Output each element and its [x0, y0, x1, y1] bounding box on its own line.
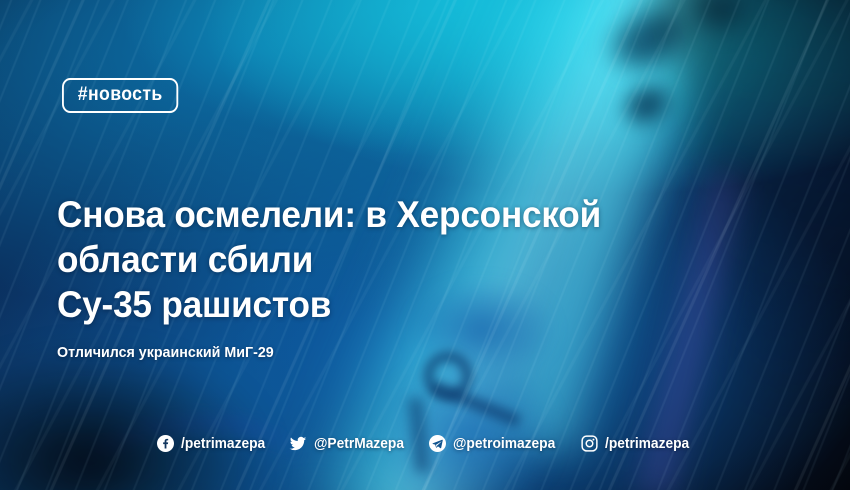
headline: Снова осмелели: в Херсонской области сби… — [57, 192, 741, 327]
instagram-icon — [581, 435, 598, 452]
telegram-icon — [429, 435, 446, 452]
social-link-twitter[interactable]: @PetrMazepa — [289, 435, 409, 452]
social-handle: @petroimazepa — [453, 436, 555, 452]
social-handle: /petrimazepa — [181, 436, 265, 452]
social-link-telegram[interactable]: @petroimazepa — [429, 435, 561, 452]
news-card: #новость Снова осмелели: в Херсонской об… — [0, 0, 850, 490]
social-link-instagram[interactable]: /petrimazepa — [581, 435, 694, 452]
twitter-icon — [289, 435, 307, 452]
category-badge[interactable]: #новость — [62, 78, 178, 113]
subtitle: Отличился украинский МиГ-29 — [57, 344, 274, 361]
social-link-facebook[interactable]: /petrimazepa — [157, 435, 270, 452]
social-links-bar: /petrimazepa @PetrMazepa @petroimazepa — [0, 435, 850, 452]
headline-line-2: Су-35 рашистов — [57, 282, 741, 327]
social-handle: @PetrMazepa — [314, 436, 404, 452]
social-handle: /petrimazepa — [605, 436, 689, 452]
card-content: #новость Снова осмелели: в Херсонской об… — [0, 0, 850, 490]
facebook-icon — [157, 435, 174, 452]
headline-line-1: Снова осмелели: в Херсонской области сби… — [57, 192, 741, 282]
